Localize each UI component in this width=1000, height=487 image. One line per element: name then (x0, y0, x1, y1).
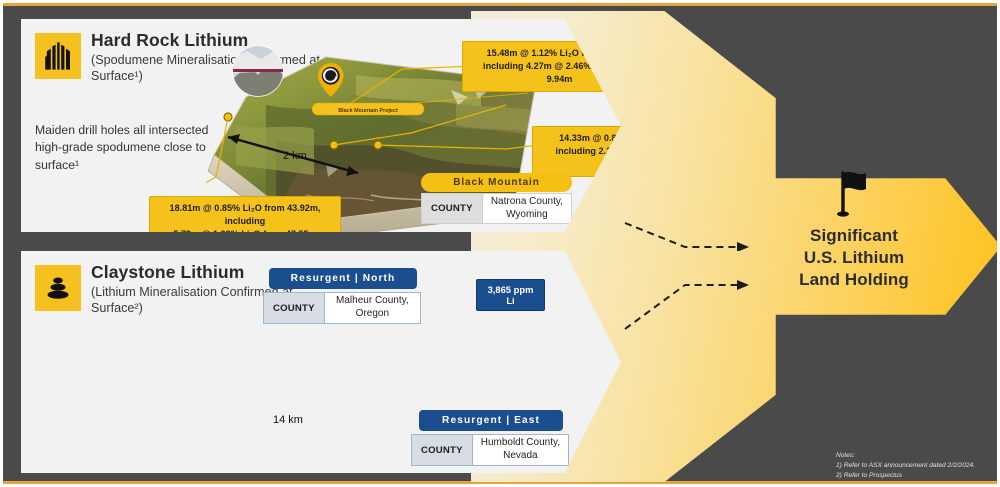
county-box-natrona: COUNTY Natrona County, Wyoming (421, 193, 572, 224)
scale-label-2km: 2 km (283, 150, 307, 162)
notes-heading: Notes: (836, 451, 975, 461)
county-value-humboldt: Humboldt County, Nevada (473, 435, 568, 465)
stacked-stones-icon (43, 273, 73, 303)
grade-tag-3865-ppm: 3,865 ppm Li (476, 279, 545, 311)
frame-accent-top (3, 3, 1000, 6)
target-label-resurgent-north: Resurgent | North (269, 268, 417, 289)
section-title-claystone: Claystone Lithium (91, 262, 244, 283)
outcome-title: Significant U.S. Lithium Land Holding (759, 225, 949, 291)
county-box-malheur: COUNTY Malheur County, Oregon (263, 292, 421, 324)
crystal-icon (42, 40, 74, 72)
county-value-malheur: Malheur County, Oregon (325, 293, 420, 323)
section-body-hard-rock: Maiden drill holes all intersected high-… (35, 122, 215, 174)
note-item-1: 1) Refer to ASX announcement dated 2/2/2… (836, 461, 975, 471)
outcome-title-line1: Significant (759, 225, 949, 247)
notes-block: Notes: 1) Refer to ASX announcement date… (836, 451, 975, 482)
county-key-label: COUNTY (264, 293, 325, 323)
target-label-resurgent-east: Resurgent | East (419, 410, 563, 431)
flag-icon (833, 169, 875, 217)
scale-label-14km: 14 km (273, 414, 303, 426)
connector-arrow-hardrock (623, 221, 763, 251)
panel-claystone-lithium: Claystone Lithium (Lithium Mineralisatio… (21, 251, 621, 473)
panel-hard-rock-lithium: Hard Rock Lithium (Spodumene Mineralisat… (21, 19, 621, 232)
callout-assay-bottomleft-line1: 18.81m @ 0.85% Li₂O from 43.92m, includi… (158, 202, 332, 228)
note-item-2: 2) Refer to Prospectus (836, 471, 975, 481)
county-value-natrona: Natrona County, Wyoming (483, 194, 571, 223)
slide-canvas: Significant U.S. Lithium Land Holding Ha… (0, 0, 1000, 487)
outcome-title-line3: Land Holding (759, 269, 949, 291)
county-key-label: COUNTY (422, 194, 483, 223)
county-key-label: COUNTY (412, 435, 473, 465)
callout-assay-bottomleft-line2: 5.79m @ 1.08% Li₂O from 47.55m (158, 228, 332, 241)
map-label-black-mountain: Black Mountain (421, 173, 572, 192)
svg-text:Black Mountain Project: Black Mountain Project (338, 108, 398, 114)
callout-assay-bottomleft: 18.81m @ 0.85% Li₂O from 43.92m, includi… (149, 196, 341, 247)
stacked-stones-icon-badge (35, 265, 81, 311)
connector-arrow-claystone (623, 265, 763, 333)
county-box-humboldt: COUNTY Humboldt County, Nevada (411, 434, 569, 466)
crystal-icon-badge (35, 33, 81, 79)
outcome-title-line2: U.S. Lithium (759, 247, 949, 269)
